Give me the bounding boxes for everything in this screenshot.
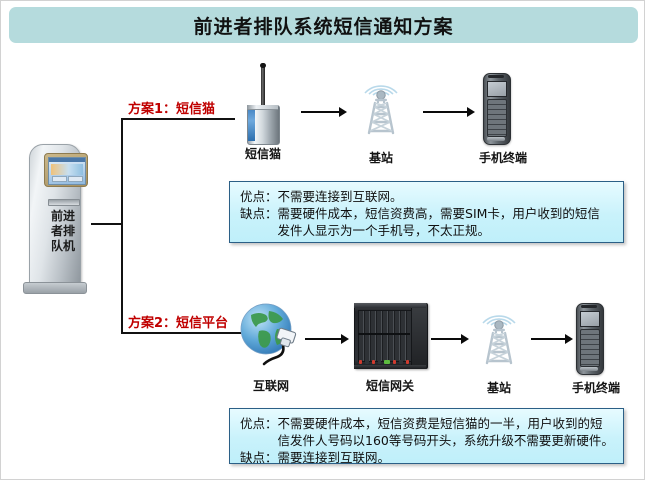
kiosk-ticket-slot — [48, 199, 80, 206]
queue-kiosk: 前进者排队机 — [21, 144, 91, 294]
node-caption: 互联网 — [239, 377, 303, 394]
server-status-leds — [359, 359, 409, 364]
kiosk-screen — [48, 157, 86, 185]
node-caption: 基站 — [349, 149, 413, 166]
kiosk-screen-button-left — [52, 176, 67, 182]
node-sms-modem: 短信猫 — [233, 63, 293, 162]
phone-keypad — [580, 329, 600, 367]
led-off — [399, 360, 402, 364]
arrow-gateway-to-tower — [431, 334, 469, 344]
connector-branch-line-scheme2 — [121, 332, 251, 334]
arrow-internet-to-gateway — [305, 334, 349, 344]
kiosk-base — [23, 282, 87, 294]
node-mobile-phone-1: 手机终端 — [479, 69, 513, 166]
scheme-1-cons-line: 缺点： 需要硬件成本，短信资费高，需要SIM卡，用户收到的短信 发件人显示为一个… — [240, 205, 614, 239]
phone-keypad — [487, 99, 507, 137]
led-red — [393, 360, 396, 364]
arrow-head — [467, 107, 475, 117]
internet-globe-svg — [239, 297, 303, 375]
scheme-2-info-box: 优点： 不需要硬件成本，短信资费是短信猫的一半，用户收到的短 信发件人号码以16… — [229, 408, 624, 464]
scheme-1-pros-line: 优点： 不需要连接到互联网。 — [240, 188, 614, 205]
led-red — [406, 360, 409, 364]
server-side-panel — [411, 303, 427, 367]
kiosk-screen-image — [51, 164, 83, 175]
sms-gateway-server-icon — [351, 297, 429, 375]
arrow-head — [341, 334, 349, 344]
led-red — [359, 360, 362, 364]
arrow-tower-to-phone — [423, 107, 475, 117]
connector-branch-line-scheme1 — [121, 118, 235, 120]
connector-vertical-line — [121, 118, 123, 334]
connector-trunk-line — [91, 223, 123, 225]
node-base-station-1: 基站 — [349, 67, 413, 166]
phone-earpiece — [488, 75, 504, 78]
cons-text: 需要连接到互联网。 — [278, 449, 614, 466]
led-off — [378, 360, 381, 364]
phone-bottom-trim — [487, 137, 505, 141]
node-caption: 手机终端 — [479, 149, 513, 166]
arrow-head — [339, 107, 347, 117]
pros-key: 优点： — [240, 188, 278, 205]
scheme-2-pros-line: 优点： 不需要硬件成本，短信资费是短信猫的一半，用户收到的短 信发件人号码以16… — [240, 415, 614, 449]
led-red — [372, 360, 375, 364]
phone-earpiece — [581, 305, 597, 308]
node-sms-gateway: 短信网关 — [351, 297, 429, 394]
arrow-head — [565, 334, 573, 344]
server-blade-divider — [358, 333, 410, 335]
phone-screen — [487, 81, 507, 97]
cell-tower-svg — [349, 67, 413, 145]
kiosk-screen-frame — [44, 153, 88, 187]
internet-globe-icon — [239, 297, 303, 375]
cons-key: 缺点： — [240, 205, 278, 222]
cell-tower-svg — [467, 297, 531, 375]
node-caption: 手机终端 — [572, 379, 606, 396]
title-banner: 前进者排队系统短信通知方案 — [9, 7, 638, 43]
modem-antenna-tip — [260, 63, 266, 68]
scheme-1-label: 方案1：短信猫 — [128, 98, 215, 117]
server-base — [354, 365, 426, 369]
mobile-phone-icon — [572, 299, 606, 377]
arrow-line — [423, 111, 467, 113]
pros-key: 优点： — [240, 415, 278, 432]
modem-antenna — [261, 63, 265, 108]
node-caption: 短信网关 — [351, 377, 429, 394]
cell-tower-icon — [467, 297, 531, 377]
server-blades — [358, 310, 412, 362]
sms-modem-icon — [233, 63, 293, 143]
arrow-line — [305, 338, 341, 340]
node-base-station-2: 基站 — [467, 297, 531, 396]
arrow-line — [531, 338, 565, 340]
pros-text: 不需要硬件成本，短信资费是短信猫的一半，用户收到的短 信发件人号码以160等号码… — [278, 415, 614, 449]
led-off — [365, 360, 368, 364]
scheme-2-label: 方案2：短信平台 — [128, 312, 228, 331]
phone-bottom-trim — [580, 367, 598, 371]
modem-label-strip — [248, 107, 255, 141]
page-title: 前进者排队系统短信通知方案 — [193, 12, 453, 39]
kiosk-screen-button-right — [68, 176, 83, 182]
led-green — [384, 360, 390, 364]
pros-text: 不需要连接到互联网。 — [278, 188, 614, 205]
cons-text: 需要硬件成本，短信资费高，需要SIM卡，用户收到的短信 发件人显示为一个手机号，… — [278, 205, 614, 239]
scheme-2-cons-line: 缺点： 需要连接到互联网。 — [240, 449, 614, 466]
kiosk-label: 前进者排队机 — [46, 209, 80, 254]
node-internet: 互联网 — [239, 297, 303, 394]
kiosk-screen-header — [49, 158, 85, 162]
node-caption: 短信猫 — [233, 145, 293, 162]
cell-tower-icon — [349, 67, 413, 147]
arrow-tower-to-phone-2 — [531, 334, 573, 344]
phone-screen — [580, 311, 600, 327]
diagram-page: 前进者排队系统短信通知方案 前进者排队机 方案1：短信猫 方案2：短信平台 — [0, 0, 645, 480]
arrow-modem-to-tower — [301, 107, 347, 117]
arrow-line — [301, 111, 339, 113]
cons-key: 缺点： — [240, 449, 278, 466]
node-mobile-phone-2: 手机终端 — [572, 299, 606, 396]
node-caption: 基站 — [467, 379, 531, 396]
scheme-1-info-box: 优点： 不需要连接到互联网。 缺点： 需要硬件成本，短信资费高，需要SIM卡，用… — [229, 181, 624, 243]
kiosk-body: 前进者排队机 — [29, 144, 81, 286]
mobile-phone-icon — [479, 69, 513, 147]
server-top-panel — [354, 303, 426, 308]
modem-cap — [247, 105, 278, 110]
arrow-head — [461, 334, 469, 344]
arrow-line — [431, 338, 461, 340]
